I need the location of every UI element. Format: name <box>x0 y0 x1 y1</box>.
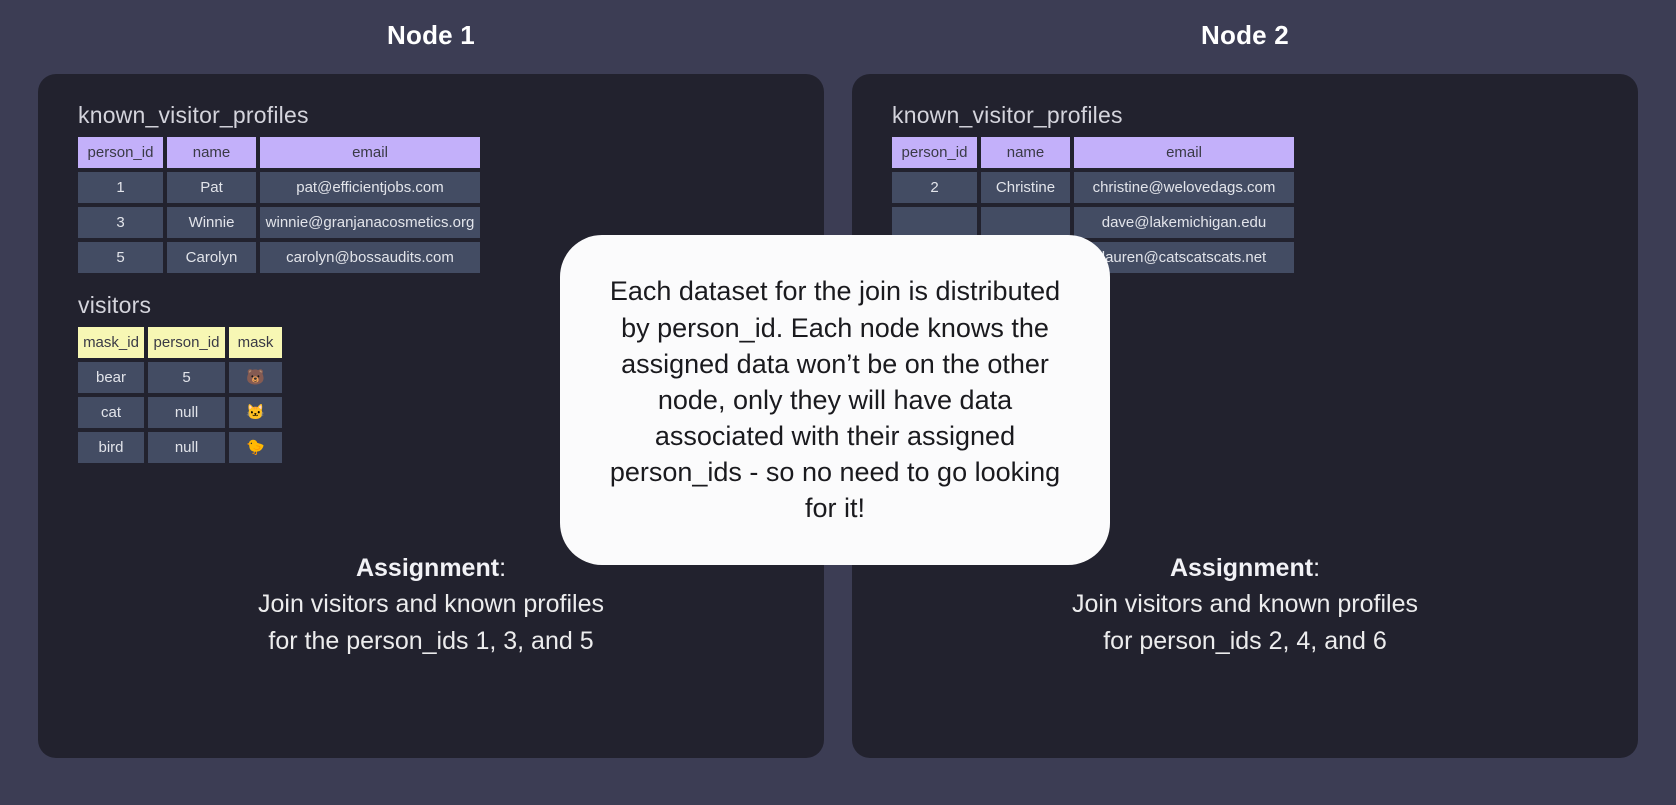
cell-person-id: null <box>148 397 225 428</box>
node-1-assignment: Assignment: Join visitors and known prof… <box>38 550 824 659</box>
cell-person-id: null <box>148 432 225 463</box>
assignment-label-text: Assignment <box>356 554 499 582</box>
bird-icon: 🐤 <box>229 432 282 463</box>
cell-person-id: 5 <box>148 362 225 393</box>
table-header-row: mask_id person_id mask <box>78 327 282 358</box>
table-row: 3 Winnie winnie@granjanacosmetics.org <box>78 207 480 238</box>
node-1-assignment-line-2: for the person_ids 1, 3, and 5 <box>38 623 824 659</box>
cell-person-id: 3 <box>78 207 163 238</box>
column-header-email: email <box>1074 137 1294 168</box>
table-row: 5 Carolyn carolyn@bossaudits.com <box>78 242 480 273</box>
cell-person-id: 5 <box>78 242 163 273</box>
cell-email: carolyn@bossaudits.com <box>260 242 480 273</box>
node-1-assignment-line-1: Join visitors and known profiles <box>38 586 824 622</box>
cell-mask-id: bird <box>78 432 144 463</box>
assignment-label-colon: : <box>499 554 506 582</box>
cell-mask-id: cat <box>78 397 144 428</box>
cat-icon: 🐱 <box>229 397 282 428</box>
table-row: bird null 🐤 <box>78 432 282 463</box>
table-row: dave@lakemichigan.edu <box>892 207 1294 238</box>
assignment-label-colon: : <box>1313 554 1320 582</box>
node-1-known-visitor-profiles-table: person_id name email 1 Pat pat@efficient… <box>74 133 484 277</box>
cell-mask-id: bear <box>78 362 144 393</box>
table-header-row: person_id name email <box>78 137 480 168</box>
table-row: bear 5 🐻 <box>78 362 282 393</box>
table-row: 2 Christine christine@welovedags.com <box>892 172 1294 203</box>
cell-email: winnie@granjanacosmetics.org <box>260 207 480 238</box>
node-1-visitors-table: mask_id person_id mask bear 5 🐻 cat null <box>74 323 286 467</box>
bear-icon: 🐻 <box>229 362 282 393</box>
node-1-known-visitor-profiles-caption: known_visitor_profiles <box>78 102 480 129</box>
node-1-known-visitor-profiles-block: known_visitor_profiles person_id name em… <box>78 102 480 273</box>
column-header-email: email <box>260 137 480 168</box>
explanation-callout-text: Each dataset for the join is distributed… <box>594 273 1076 526</box>
node-2-assignment-line-2: for person_ids 2, 4, and 6 <box>852 623 1638 659</box>
cell-email: dave@lakemichigan.edu <box>1074 207 1294 238</box>
column-header-person-id: person_id <box>78 137 163 168</box>
node-1-title: Node 1 <box>38 20 824 51</box>
node-2-title: Node 2 <box>852 20 1638 51</box>
cell-email: christine@welovedags.com <box>1074 172 1294 203</box>
column-header-name: name <box>167 137 256 168</box>
table-row: 1 Pat pat@efficientjobs.com <box>78 172 480 203</box>
node-2-known-visitor-profiles-caption: known_visitor_profiles <box>892 102 1294 129</box>
column-header-person-id: person_id <box>892 137 977 168</box>
cell-name: Pat <box>167 172 256 203</box>
cell-person-id: 2 <box>892 172 977 203</box>
table-header-row: person_id name email <box>892 137 1294 168</box>
cell-name: Winnie <box>167 207 256 238</box>
cell-email: pat@efficientjobs.com <box>260 172 480 203</box>
cell-name <box>981 207 1070 238</box>
node-2-assignment-line-1: Join visitors and known profiles <box>852 586 1638 622</box>
node-1-visitors-caption: visitors <box>78 292 282 319</box>
cell-person-id: 1 <box>78 172 163 203</box>
column-header-mask: mask <box>229 327 282 358</box>
assignment-label-text: Assignment <box>1170 554 1313 582</box>
explanation-callout: Each dataset for the join is distributed… <box>560 235 1110 565</box>
node-2-assignment: Assignment: Join visitors and known prof… <box>852 550 1638 659</box>
cell-name: Christine <box>981 172 1070 203</box>
cell-name: Carolyn <box>167 242 256 273</box>
column-header-person-id: person_id <box>148 327 225 358</box>
cell-person-id <box>892 207 977 238</box>
node-1-visitors-block: visitors mask_id person_id mask bear 5 🐻 <box>78 292 282 463</box>
column-header-mask-id: mask_id <box>78 327 144 358</box>
table-row: cat null 🐱 <box>78 397 282 428</box>
column-header-name: name <box>981 137 1070 168</box>
